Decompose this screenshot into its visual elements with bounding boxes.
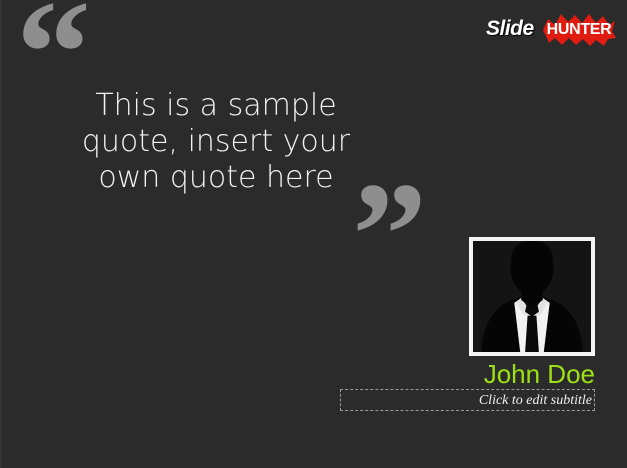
opening-quote-icon: “: [16, 0, 87, 128]
slide-left-edge: [0, 0, 4, 468]
subtitle-placeholder-text: Click to edit subtitle: [479, 392, 592, 409]
person-name[interactable]: John Doe: [340, 360, 595, 388]
logo-hunter-text: HUNTER: [544, 21, 614, 39]
slide-canvas: Slide HUNTER “ ” This is a sample quote,…: [0, 0, 627, 468]
logo-slide-text: Slide: [486, 18, 534, 40]
portrait-photo: [473, 241, 591, 352]
portrait-photo-frame[interactable]: [469, 237, 595, 356]
quote-text[interactable]: This is a sample quote, insert your own …: [80, 88, 352, 196]
closing-quote-icon: ”: [352, 160, 423, 310]
slidehunter-logo[interactable]: Slide HUNTER: [486, 12, 616, 48]
subtitle-placeholder-box[interactable]: Click to edit subtitle: [340, 389, 595, 411]
